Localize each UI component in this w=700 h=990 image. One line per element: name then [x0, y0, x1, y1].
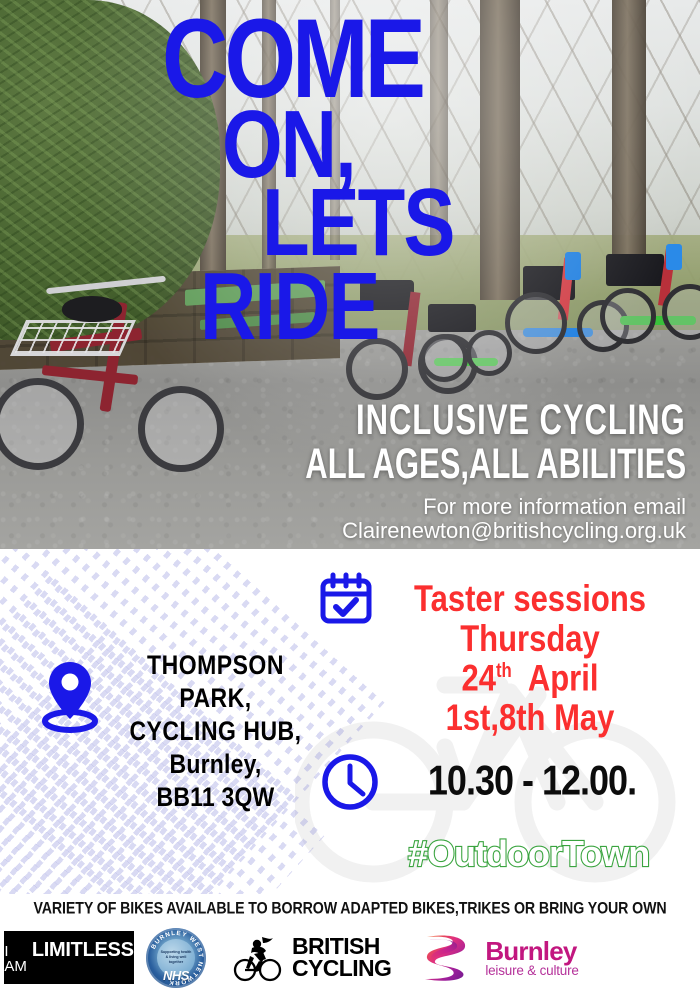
- address-line-1: THOMPSON PARK,: [108, 648, 323, 714]
- logo-british-cycling: BRITISH CYCLING: [232, 932, 391, 984]
- address-line-2: CYCLING HUB,: [108, 714, 323, 747]
- calendar-check-icon: [318, 572, 374, 626]
- dates-line-4: 1st,8th May: [370, 698, 690, 737]
- limitless-word-1: I AM: [4, 944, 27, 974]
- day-suffix: th: [496, 658, 512, 681]
- hashtag-outdoortown: #OutdoorTown: [408, 836, 698, 872]
- headline-line-4: RIDE: [200, 268, 378, 346]
- burnley-line-1: Burnley: [485, 938, 578, 964]
- session-times: 10.30 - 12.00.: [372, 756, 692, 805]
- nhs-wordmark: NHS: [146, 968, 206, 983]
- location-address: THOMPSON PARK, CYCLING HUB, Burnley, BB1…: [108, 648, 323, 813]
- logo-strip: I AM LIMITLESS BURNLEY WEST NETWORK Supp…: [0, 925, 700, 990]
- day-number: 24: [462, 656, 496, 698]
- dates-line-3: 24th April: [370, 659, 690, 698]
- limitless-word-2: LIMITLESS: [32, 940, 134, 960]
- burnley-line-2: leisure & culture: [485, 964, 578, 978]
- map-pin-icon: [38, 658, 102, 734]
- clock-icon: [320, 752, 380, 812]
- address-line-4: BB11 3QW: [108, 780, 323, 813]
- burnley-ribbon-icon: [419, 931, 477, 985]
- dates-line-1: Taster sessions: [370, 580, 690, 619]
- contact-email[interactable]: Clairenewton@britishcycling.org.uk: [342, 518, 686, 545]
- address-line-3: Burnley,: [108, 747, 323, 780]
- headline-line-3: LETS: [262, 184, 453, 262]
- bikes-availability-note: VARIETY OF BIKES AVAILABLE TO BORROW ADA…: [0, 900, 700, 918]
- session-dates: Taster sessions Thursday 24th April 1st,…: [370, 580, 690, 738]
- subhead-line-1: INCLUSIVE CYCLING: [356, 398, 686, 440]
- hero-photo: COME ON, LETS RIDE INCLUSIVE CYCLING ALL…: [0, 0, 700, 549]
- cyclist-icon: [232, 932, 284, 984]
- subhead-line-2: ALL AGES,ALL ABILITIES: [305, 442, 686, 484]
- logo-burnley-leisure-culture: Burnley leisure & culture: [419, 931, 578, 985]
- poster-root: COME ON, LETS RIDE INCLUSIVE CYCLING ALL…: [0, 0, 700, 990]
- contact-prompt: For more information email: [423, 494, 686, 521]
- logo-nhs-burnley-west-network: BURNLEY WEST NETWORK Supporting health &…: [134, 928, 206, 988]
- dates-line-2: Thursday: [370, 619, 690, 658]
- month-name: April: [528, 656, 599, 698]
- logo-i-am-limitless: I AM LIMITLESS: [0, 931, 134, 984]
- british-cycling-line-2: CYCLING: [292, 958, 391, 980]
